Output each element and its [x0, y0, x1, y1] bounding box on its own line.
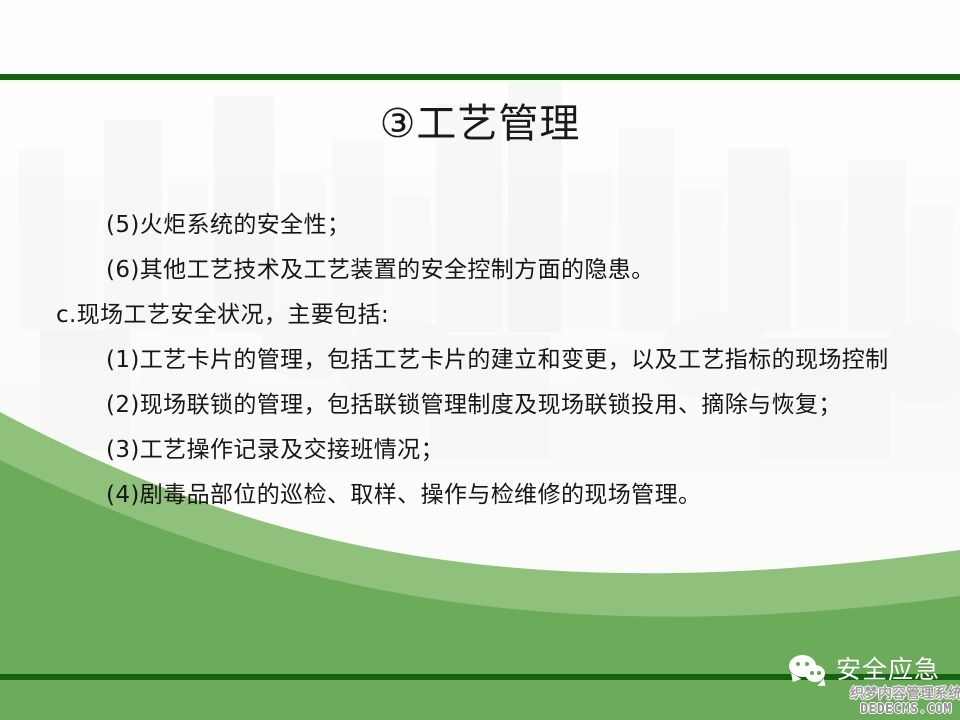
body-line: (4)剧毒品部位的巡检、取样、操作与检维修的现场管理。 — [56, 473, 936, 518]
wechat-icon — [789, 655, 831, 689]
watermark-chinese-text: 织梦内容管理系统 — [846, 686, 960, 702]
wechat-eye-dot — [796, 662, 800, 666]
body-line: (1)工艺卡片的管理，包括工艺卡片的建立和变更，以及工艺指标的现场控制 — [56, 338, 936, 383]
wechat-eye-dot — [810, 671, 814, 675]
footer-account-name: 安全应急 — [836, 654, 940, 686]
header-divider-glow — [0, 80, 960, 84]
wechat-eye-dot — [817, 671, 821, 675]
body-line: (6)其他工艺技术及工艺装置的安全控制方面的隐患。 — [56, 248, 936, 293]
body-line: (3)工艺操作记录及交接班情况； — [56, 428, 936, 473]
slide-canvas: ③工艺管理 (5)火炬系统的安全性； (6)其他工艺技术及工艺装置的安全控制方面… — [0, 0, 960, 720]
watermark-domain-text: DEDECMS.COM — [846, 702, 960, 718]
body-line: (5)火炬系统的安全性； — [56, 203, 936, 248]
header-band — [0, 0, 960, 74]
body-line: c.现场工艺安全状况，主要包括: — [56, 293, 936, 338]
wechat-eye-dot — [805, 662, 809, 666]
slide-body: (5)火炬系统的安全性； (6)其他工艺技术及工艺装置的安全控制方面的隐患。 c… — [56, 203, 936, 518]
dedecms-watermark: 织梦内容管理系统 DEDECMS.COM — [846, 686, 960, 718]
body-line: (2)现场联锁的管理，包括联锁管理制度及现场联锁投用、摘除与恢复； — [56, 383, 936, 428]
page-title: ③工艺管理 — [0, 98, 960, 150]
